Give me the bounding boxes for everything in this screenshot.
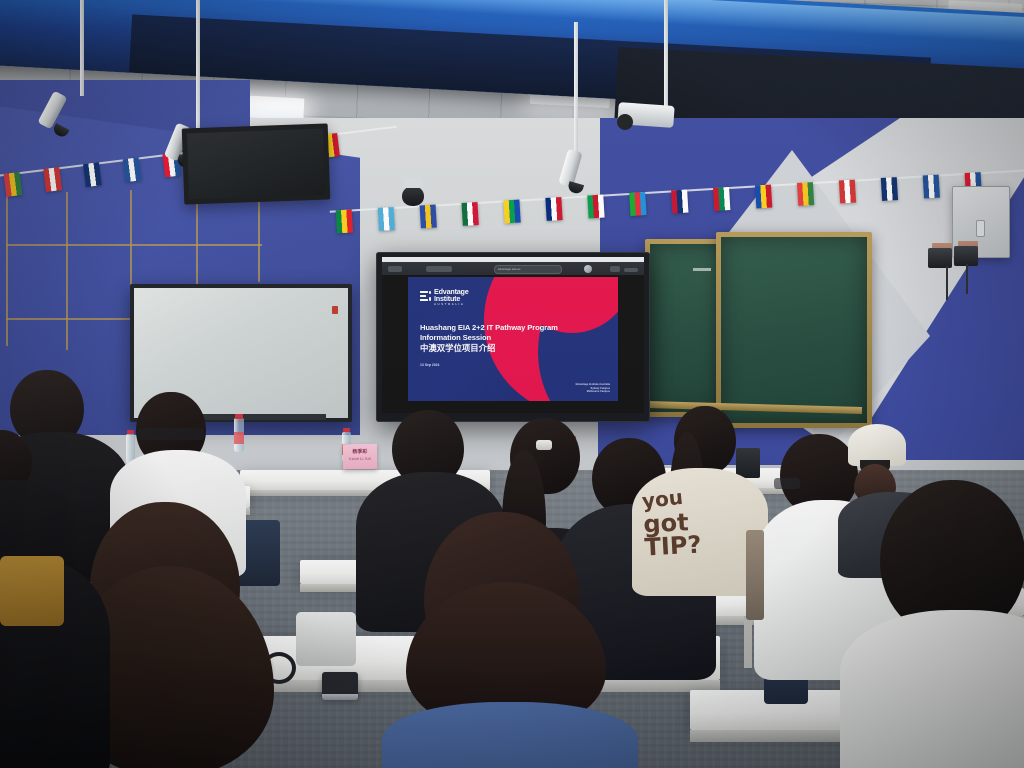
flag [671,190,688,214]
flag [839,180,856,204]
slide-title-en-line2: Information Session [420,333,570,343]
dome-camera-mount [404,178,422,188]
name-card-cn: 杨季彩 [343,448,377,456]
spotlight-rod [574,22,578,154]
spotlight-rod [664,0,668,108]
tv-screen[interactable]: edvantage.edu.au Edvantage Ins [382,257,644,413]
flag [545,197,562,221]
wall-trim [6,196,8,346]
browser-toolbar: edvantage.edu.au [382,262,644,275]
logo-mark-icon [420,291,431,303]
flag [378,207,395,231]
slide-footer: Edvantage Institute Australia Sydney Cam… [576,383,610,394]
browser-url-text: edvantage.edu.au [495,266,561,271]
phone-stand [322,694,358,700]
hair-clip [536,440,552,450]
backpack [0,556,64,626]
slide-footer-line: Melbourne Campus [576,390,610,394]
name-card-en: Kevin Li Jun [343,456,377,462]
dome-camera [402,186,424,206]
wall-trim [130,190,132,290]
spotlight-rod [196,0,200,128]
chalk-stick [693,268,711,271]
wall-monitor-screen [187,129,325,200]
browser-tab[interactable] [426,266,452,272]
flag [923,175,940,199]
flag [881,177,898,201]
chair[interactable] [296,612,356,666]
bag-strap [746,530,764,620]
browser-menu-icon[interactable] [610,266,620,272]
laptop[interactable] [736,448,760,478]
flag [336,209,353,233]
browser-window-controls[interactable] [624,268,638,272]
flag [123,157,142,182]
slide-date: 13 Sep 2024 [420,363,439,367]
slide-title-en-line1: Huashang EIA 2+2 IT Pathway Program [420,323,570,333]
desk-leg [744,616,752,668]
edvantage-logo: Edvantage Institute AUSTRALIA [420,288,469,306]
browser-profile-avatar[interactable] [584,265,592,273]
presentation-slide: Edvantage Institute AUSTRALIA Huashang E… [408,277,618,401]
flag [503,200,520,224]
speaker-cable [966,264,968,294]
bottle-cap [343,428,350,432]
slide-title-cn: 中澳双学位项目介绍 [420,343,570,354]
shirt-graphic-line1: you [641,488,684,511]
spotlight-rod [80,0,84,96]
panel-switch[interactable] [976,220,985,237]
flag [420,204,437,228]
flag [43,167,62,192]
flag [629,192,646,216]
eyeglasses [774,478,800,489]
bottle-cap [127,430,134,434]
bottle-label [234,432,244,444]
flag [587,195,604,219]
shirt-graphic-line2: got TIP? [643,511,702,560]
flag [4,172,23,197]
wall-speaker [954,246,978,266]
projector-lens [617,114,633,130]
speaker-cable [946,266,948,300]
flag [755,185,772,209]
wall-speaker [928,248,952,268]
eyeglasses [138,428,204,440]
wall-trim [6,244,262,246]
wall-trim [66,192,68,350]
flag [461,202,478,226]
flag [83,162,102,187]
browser-nav-buttons[interactable] [388,266,402,272]
flag [797,182,814,206]
classroom-scene: edvantage.edu.au Edvantage Ins [0,0,1024,768]
browser-address-bar[interactable]: edvantage.edu.au [494,265,562,274]
bottle-cap [235,414,243,419]
chalkboard-right [716,232,872,428]
slide-footer-line: Edvantage Institute Australia [576,383,610,387]
flag [713,187,730,211]
slide-title-block: Huashang EIA 2+2 IT Pathway Program Info… [420,323,570,354]
wall-trim [6,318,136,320]
logo-country: AUSTRALIA [434,303,469,306]
name-card: 杨季彩 Kevin Li Jun [343,444,377,470]
whiteboard-marker[interactable] [332,306,338,314]
